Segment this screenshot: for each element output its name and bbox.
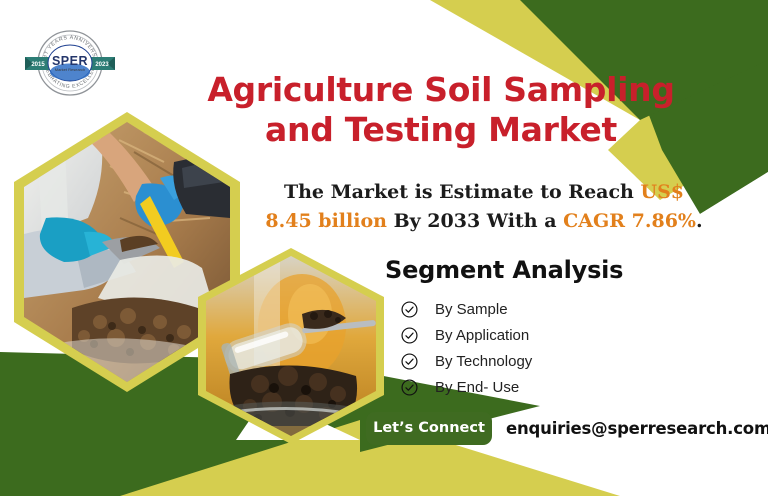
logo-brand: SPER [52, 54, 88, 68]
subtitle-text-1: The Market is Estimate to Reach [284, 181, 641, 203]
lets-connect-button[interactable]: Let’s Connect [366, 412, 492, 445]
page-title: Agriculture Soil Sampling and Testing Ma… [206, 70, 676, 150]
subtitle-text-3: . [696, 210, 703, 232]
check-circle-icon [401, 379, 418, 396]
list-item: By Technology [401, 348, 532, 374]
list-item: By End- Use [401, 374, 532, 400]
segment-item-label: By Technology [435, 353, 532, 370]
sper-logo: EIGHT YEARS ANNIVERSARY CELEBRATING EXCE… [22, 26, 118, 100]
contact-email[interactable]: enquiries@sperresearch.com [506, 419, 768, 438]
segment-analysis-list: By Sample By Application By Technology B… [401, 296, 532, 400]
subtitle-text-2: By 2033 With a [387, 210, 563, 232]
segment-item-label: By End- Use [435, 379, 519, 396]
segment-analysis-heading: Segment Analysis [385, 256, 623, 284]
logo-tagline: Market Research [55, 67, 85, 72]
segment-item-label: By Sample [435, 301, 508, 318]
market-value-statement: The Market is Estimate to Reach US$ 8.45… [258, 178, 710, 236]
check-circle-icon [401, 301, 418, 318]
title-line-1: Agriculture Soil Sampling [206, 70, 676, 110]
list-item: By Sample [401, 296, 532, 322]
list-item: By Application [401, 322, 532, 348]
cagr-value: CAGR 7.86% [563, 210, 696, 232]
poster-canvas: EIGHT YEARS ANNIVERSARY CELEBRATING EXCE… [0, 0, 768, 496]
logo-year-end: 2023 [95, 62, 109, 68]
check-circle-icon [401, 353, 418, 370]
deco-top-right-green-3 [700, 172, 768, 496]
logo-year-start: 2015 [31, 62, 45, 68]
check-circle-icon [401, 327, 418, 344]
segment-item-label: By Application [435, 327, 529, 344]
title-line-2: and Testing Market [206, 110, 676, 150]
